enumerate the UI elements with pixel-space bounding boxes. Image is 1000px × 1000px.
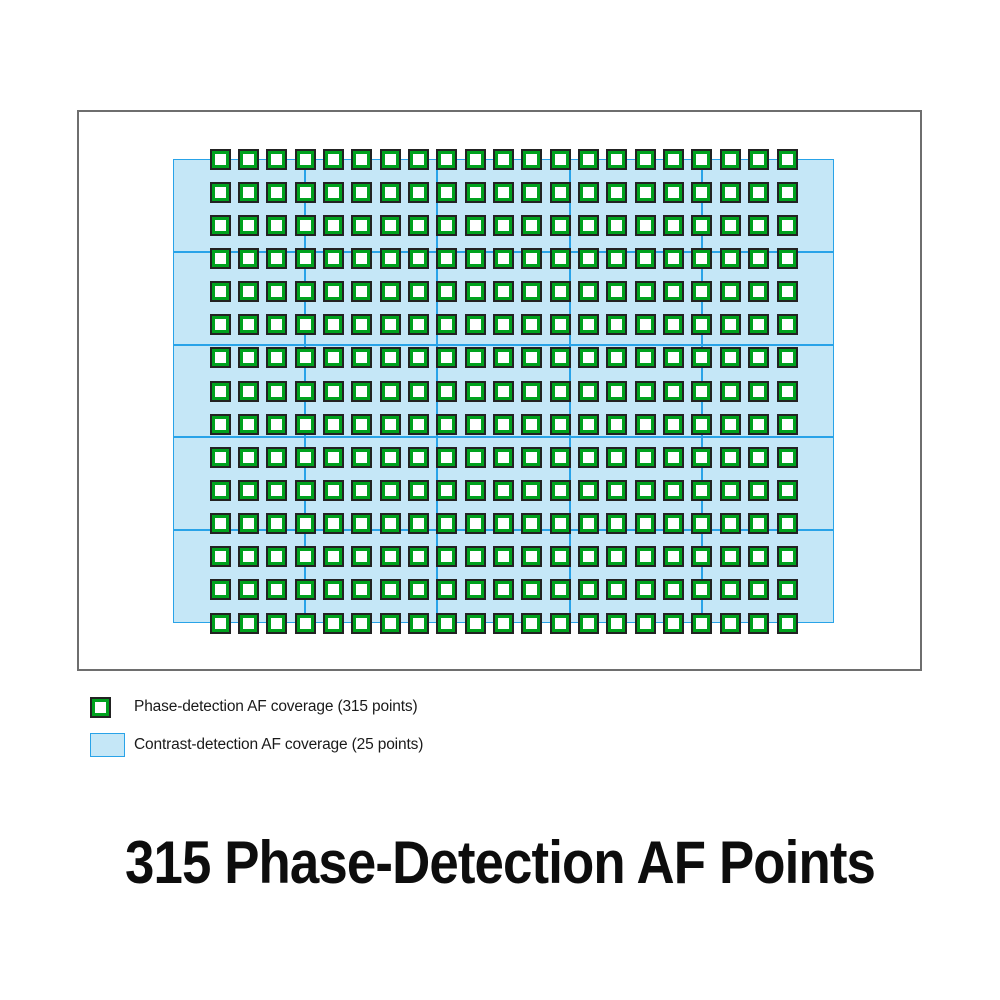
phase-af-point-r11-c8[interactable] [408,480,429,501]
phase-af-point-r15-c17[interactable] [663,613,684,634]
phase-af-point-r11-c12[interactable] [521,480,542,501]
phase-af-point-r9-c3[interactable] [266,414,287,435]
phase-af-point-r4-c7[interactable] [380,248,401,269]
phase-af-point-r12-c13[interactable] [550,513,571,534]
phase-af-point-r2-c13[interactable] [550,182,571,203]
phase-af-point-r14-c17[interactable] [663,579,684,600]
phase-af-point-r4-c1[interactable] [210,248,231,269]
contrast-zone-r5-c4[interactable] [570,530,702,623]
phase-af-point-r10-c15[interactable] [606,447,627,468]
phase-af-point-r1-c17[interactable] [663,149,684,170]
phase-af-point-r11-c16[interactable] [635,480,656,501]
phase-af-point-r2-c6[interactable] [351,182,372,203]
phase-af-point-r8-c2[interactable] [238,381,259,402]
phase-af-point-r4-c5[interactable] [323,248,344,269]
phase-af-point-r13-c9[interactable] [436,546,457,567]
phase-af-point-r12-c20[interactable] [748,513,769,534]
phase-af-point-r2-c19[interactable] [720,182,741,203]
phase-af-point-r3-c11[interactable] [493,215,514,236]
phase-af-point-r5-c4[interactable] [295,281,316,302]
contrast-zone-r5-c3[interactable] [437,530,569,623]
phase-af-point-r8-c14[interactable] [578,381,599,402]
phase-af-point-r10-c6[interactable] [351,447,372,468]
phase-af-point-r13-c21[interactable] [777,546,798,567]
phase-af-point-r6-c21[interactable] [777,314,798,335]
phase-af-point-r3-c14[interactable] [578,215,599,236]
phase-af-point-r15-c1[interactable] [210,613,231,634]
phase-af-point-r1-c19[interactable] [720,149,741,170]
phase-af-point-r13-c15[interactable] [606,546,627,567]
phase-af-point-r8-c11[interactable] [493,381,514,402]
phase-af-point-r15-c5[interactable] [323,613,344,634]
phase-af-point-r9-c17[interactable] [663,414,684,435]
phase-af-point-r1-c2[interactable] [238,149,259,170]
phase-af-point-r14-c21[interactable] [777,579,798,600]
phase-af-point-r13-c19[interactable] [720,546,741,567]
phase-af-point-r6-c6[interactable] [351,314,372,335]
phase-af-point-r14-c4[interactable] [295,579,316,600]
phase-af-point-r7-c7[interactable] [380,347,401,368]
phase-af-point-r11-c21[interactable] [777,480,798,501]
phase-af-point-r4-c21[interactable] [777,248,798,269]
phase-af-point-r3-c9[interactable] [436,215,457,236]
phase-af-point-r6-c4[interactable] [295,314,316,335]
phase-af-point-r10-c14[interactable] [578,447,599,468]
phase-af-point-r1-c15[interactable] [606,149,627,170]
phase-af-point-r1-c14[interactable] [578,149,599,170]
phase-af-point-r10-c20[interactable] [748,447,769,468]
phase-af-point-r13-c20[interactable] [748,546,769,567]
phase-af-point-r4-c12[interactable] [521,248,542,269]
phase-af-point-r2-c20[interactable] [748,182,769,203]
phase-af-point-r15-c7[interactable] [380,613,401,634]
phase-af-point-r12-c11[interactable] [493,513,514,534]
phase-af-point-r8-c9[interactable] [436,381,457,402]
phase-af-point-r8-c20[interactable] [748,381,769,402]
phase-af-point-r13-c17[interactable] [663,546,684,567]
phase-af-point-r1-c18[interactable] [691,149,712,170]
phase-af-point-r1-c3[interactable] [266,149,287,170]
phase-af-point-r5-c13[interactable] [550,281,571,302]
contrast-zone-r5-c1[interactable] [173,530,305,623]
phase-af-point-r8-c3[interactable] [266,381,287,402]
phase-af-point-r6-c14[interactable] [578,314,599,335]
phase-af-point-r11-c6[interactable] [351,480,372,501]
phase-af-point-r1-c5[interactable] [323,149,344,170]
contrast-zone-r1-c5[interactable] [702,159,834,252]
phase-af-point-r12-c3[interactable] [266,513,287,534]
phase-af-point-r5-c21[interactable] [777,281,798,302]
phase-af-point-r3-c5[interactable] [323,215,344,236]
phase-af-point-r13-c5[interactable] [323,546,344,567]
phase-af-point-r8-c21[interactable] [777,381,798,402]
phase-af-point-r2-c8[interactable] [408,182,429,203]
phase-af-point-r15-c2[interactable] [238,613,259,634]
phase-af-point-r8-c6[interactable] [351,381,372,402]
phase-af-point-r8-c1[interactable] [210,381,231,402]
phase-af-point-r2-c21[interactable] [777,182,798,203]
phase-af-point-r13-c13[interactable] [550,546,571,567]
phase-af-point-r8-c13[interactable] [550,381,571,402]
phase-af-point-r8-c18[interactable] [691,381,712,402]
phase-af-point-r15-c4[interactable] [295,613,316,634]
phase-af-point-r14-c15[interactable] [606,579,627,600]
phase-af-point-r7-c11[interactable] [493,347,514,368]
phase-af-point-r3-c1[interactable] [210,215,231,236]
phase-af-point-r7-c6[interactable] [351,347,372,368]
phase-af-point-r7-c9[interactable] [436,347,457,368]
phase-af-point-r13-c14[interactable] [578,546,599,567]
phase-af-point-r5-c5[interactable] [323,281,344,302]
phase-af-point-r4-c8[interactable] [408,248,429,269]
phase-af-point-r12-c4[interactable] [295,513,316,534]
phase-af-point-r1-c13[interactable] [550,149,571,170]
phase-af-point-r6-c9[interactable] [436,314,457,335]
phase-af-point-r10-c16[interactable] [635,447,656,468]
phase-af-point-r1-c20[interactable] [748,149,769,170]
phase-af-point-r4-c17[interactable] [663,248,684,269]
phase-af-point-r14-c1[interactable] [210,579,231,600]
phase-af-point-r5-c7[interactable] [380,281,401,302]
contrast-zone-r1-c4[interactable] [570,159,702,252]
phase-af-point-r6-c20[interactable] [748,314,769,335]
phase-af-point-r5-c2[interactable] [238,281,259,302]
phase-af-point-r2-c11[interactable] [493,182,514,203]
phase-af-point-r6-c16[interactable] [635,314,656,335]
phase-af-point-r11-c10[interactable] [465,480,486,501]
phase-af-point-r10-c10[interactable] [465,447,486,468]
phase-af-point-r10-c7[interactable] [380,447,401,468]
phase-af-point-r14-c7[interactable] [380,579,401,600]
phase-af-point-r12-c18[interactable] [691,513,712,534]
phase-af-point-r11-c14[interactable] [578,480,599,501]
phase-af-point-r13-c18[interactable] [691,546,712,567]
phase-af-point-r14-c10[interactable] [465,579,486,600]
phase-af-point-r10-c9[interactable] [436,447,457,468]
phase-af-point-r6-c15[interactable] [606,314,627,335]
phase-af-point-r3-c20[interactable] [748,215,769,236]
phase-af-point-r10-c18[interactable] [691,447,712,468]
phase-af-point-r5-c1[interactable] [210,281,231,302]
phase-af-point-r11-c15[interactable] [606,480,627,501]
phase-af-point-r9-c12[interactable] [521,414,542,435]
phase-af-point-r3-c7[interactable] [380,215,401,236]
phase-af-point-r8-c16[interactable] [635,381,656,402]
phase-af-point-r2-c17[interactable] [663,182,684,203]
phase-af-point-r15-c16[interactable] [635,613,656,634]
phase-af-point-r10-c13[interactable] [550,447,571,468]
phase-af-point-r15-c13[interactable] [550,613,571,634]
phase-af-point-r14-c6[interactable] [351,579,372,600]
phase-af-point-r10-c21[interactable] [777,447,798,468]
phase-af-point-r4-c11[interactable] [493,248,514,269]
phase-af-point-r7-c5[interactable] [323,347,344,368]
phase-af-point-r2-c18[interactable] [691,182,712,203]
phase-af-point-r12-c14[interactable] [578,513,599,534]
phase-af-point-r6-c2[interactable] [238,314,259,335]
phase-af-point-r9-c5[interactable] [323,414,344,435]
phase-af-point-r1-c21[interactable] [777,149,798,170]
phase-af-point-r15-c18[interactable] [691,613,712,634]
phase-af-point-r10-c1[interactable] [210,447,231,468]
phase-af-point-r15-c9[interactable] [436,613,457,634]
phase-af-point-r5-c16[interactable] [635,281,656,302]
phase-af-point-r7-c1[interactable] [210,347,231,368]
phase-af-point-r15-c3[interactable] [266,613,287,634]
phase-af-point-r9-c21[interactable] [777,414,798,435]
phase-af-point-r3-c6[interactable] [351,215,372,236]
phase-af-point-r11-c17[interactable] [663,480,684,501]
phase-af-point-r9-c7[interactable] [380,414,401,435]
phase-af-point-r13-c16[interactable] [635,546,656,567]
phase-af-point-r10-c11[interactable] [493,447,514,468]
phase-af-point-r6-c10[interactable] [465,314,486,335]
phase-af-point-r2-c3[interactable] [266,182,287,203]
phase-af-point-r12-c7[interactable] [380,513,401,534]
phase-af-point-r7-c2[interactable] [238,347,259,368]
phase-af-point-r14-c20[interactable] [748,579,769,600]
phase-af-point-r11-c2[interactable] [238,480,259,501]
phase-af-point-r14-c11[interactable] [493,579,514,600]
phase-af-point-r6-c11[interactable] [493,314,514,335]
phase-af-point-r14-c5[interactable] [323,579,344,600]
phase-af-point-r13-c2[interactable] [238,546,259,567]
phase-af-point-r10-c8[interactable] [408,447,429,468]
phase-af-point-r5-c15[interactable] [606,281,627,302]
phase-af-point-r7-c16[interactable] [635,347,656,368]
phase-af-point-r13-c8[interactable] [408,546,429,567]
phase-af-point-r13-c12[interactable] [521,546,542,567]
phase-af-point-r2-c15[interactable] [606,182,627,203]
phase-af-point-r7-c12[interactable] [521,347,542,368]
phase-af-point-r15-c12[interactable] [521,613,542,634]
phase-af-point-r10-c2[interactable] [238,447,259,468]
contrast-zone-r1-c3[interactable] [437,159,569,252]
phase-af-point-r11-c4[interactable] [295,480,316,501]
phase-af-point-r6-c1[interactable] [210,314,231,335]
phase-af-point-r1-c9[interactable] [436,149,457,170]
phase-af-point-r8-c12[interactable] [521,381,542,402]
phase-af-point-r6-c12[interactable] [521,314,542,335]
phase-af-point-r12-c6[interactable] [351,513,372,534]
phase-af-point-r12-c16[interactable] [635,513,656,534]
phase-af-point-r3-c12[interactable] [521,215,542,236]
phase-af-point-r5-c12[interactable] [521,281,542,302]
phase-af-point-r14-c16[interactable] [635,579,656,600]
phase-af-point-r1-c12[interactable] [521,149,542,170]
phase-af-point-r2-c9[interactable] [436,182,457,203]
phase-af-point-r7-c20[interactable] [748,347,769,368]
phase-af-point-r13-c3[interactable] [266,546,287,567]
contrast-zone-r1-c1[interactable] [173,159,305,252]
phase-af-point-r8-c10[interactable] [465,381,486,402]
contrast-zone-r1-c2[interactable] [305,159,437,252]
phase-af-point-r10-c5[interactable] [323,447,344,468]
phase-af-point-r6-c18[interactable] [691,314,712,335]
phase-af-point-r4-c2[interactable] [238,248,259,269]
phase-af-point-r14-c9[interactable] [436,579,457,600]
phase-af-point-r10-c4[interactable] [295,447,316,468]
phase-af-point-r15-c14[interactable] [578,613,599,634]
phase-af-point-r9-c10[interactable] [465,414,486,435]
phase-af-point-r14-c14[interactable] [578,579,599,600]
phase-af-point-r3-c8[interactable] [408,215,429,236]
phase-af-point-r7-c21[interactable] [777,347,798,368]
phase-af-point-r7-c18[interactable] [691,347,712,368]
phase-af-point-r7-c3[interactable] [266,347,287,368]
phase-af-point-r9-c13[interactable] [550,414,571,435]
phase-af-point-r6-c3[interactable] [266,314,287,335]
phase-af-point-r5-c19[interactable] [720,281,741,302]
phase-af-point-r12-c1[interactable] [210,513,231,534]
phase-af-point-r3-c19[interactable] [720,215,741,236]
phase-af-point-r5-c6[interactable] [351,281,372,302]
phase-af-point-r7-c17[interactable] [663,347,684,368]
phase-af-point-r15-c10[interactable] [465,613,486,634]
phase-af-point-r4-c15[interactable] [606,248,627,269]
phase-af-point-r12-c12[interactable] [521,513,542,534]
phase-af-point-r8-c8[interactable] [408,381,429,402]
phase-af-point-r7-c10[interactable] [465,347,486,368]
phase-af-point-r11-c3[interactable] [266,480,287,501]
phase-af-point-r5-c18[interactable] [691,281,712,302]
phase-af-point-r11-c13[interactable] [550,480,571,501]
phase-af-point-r2-c12[interactable] [521,182,542,203]
phase-af-point-r7-c13[interactable] [550,347,571,368]
phase-af-point-r9-c19[interactable] [720,414,741,435]
phase-af-point-r11-c1[interactable] [210,480,231,501]
phase-af-point-r6-c17[interactable] [663,314,684,335]
phase-af-point-r2-c5[interactable] [323,182,344,203]
phase-af-point-r9-c18[interactable] [691,414,712,435]
phase-af-point-r11-c5[interactable] [323,480,344,501]
phase-af-point-r15-c20[interactable] [748,613,769,634]
phase-af-point-r5-c20[interactable] [748,281,769,302]
phase-af-point-r4-c13[interactable] [550,248,571,269]
phase-af-point-r13-c7[interactable] [380,546,401,567]
phase-af-point-r3-c10[interactable] [465,215,486,236]
phase-af-point-r10-c17[interactable] [663,447,684,468]
phase-af-point-r15-c11[interactable] [493,613,514,634]
phase-af-point-r6-c13[interactable] [550,314,571,335]
phase-af-point-r8-c7[interactable] [380,381,401,402]
phase-af-point-r9-c15[interactable] [606,414,627,435]
phase-af-point-r9-c16[interactable] [635,414,656,435]
phase-af-point-r13-c10[interactable] [465,546,486,567]
phase-af-point-r4-c20[interactable] [748,248,769,269]
phase-af-point-r8-c17[interactable] [663,381,684,402]
phase-af-point-r5-c11[interactable] [493,281,514,302]
phase-af-point-r3-c21[interactable] [777,215,798,236]
phase-af-point-r7-c8[interactable] [408,347,429,368]
phase-af-point-r1-c4[interactable] [295,149,316,170]
phase-af-point-r3-c2[interactable] [238,215,259,236]
phase-af-point-r12-c21[interactable] [777,513,798,534]
phase-af-point-r4-c10[interactable] [465,248,486,269]
phase-af-point-r3-c3[interactable] [266,215,287,236]
phase-af-point-r5-c17[interactable] [663,281,684,302]
phase-af-point-r4-c9[interactable] [436,248,457,269]
phase-af-point-r9-c14[interactable] [578,414,599,435]
phase-af-point-r2-c10[interactable] [465,182,486,203]
phase-af-point-r8-c15[interactable] [606,381,627,402]
phase-af-point-r15-c15[interactable] [606,613,627,634]
phase-af-point-r2-c2[interactable] [238,182,259,203]
phase-af-point-r14-c3[interactable] [266,579,287,600]
phase-af-point-r2-c16[interactable] [635,182,656,203]
phase-af-point-r7-c15[interactable] [606,347,627,368]
phase-af-point-r4-c18[interactable] [691,248,712,269]
phase-af-point-r5-c8[interactable] [408,281,429,302]
phase-af-point-r3-c15[interactable] [606,215,627,236]
phase-af-point-r5-c10[interactable] [465,281,486,302]
phase-af-point-r9-c1[interactable] [210,414,231,435]
phase-af-point-r11-c7[interactable] [380,480,401,501]
contrast-zone-r5-c5[interactable] [702,530,834,623]
phase-af-point-r13-c4[interactable] [295,546,316,567]
phase-af-point-r15-c8[interactable] [408,613,429,634]
phase-af-point-r11-c20[interactable] [748,480,769,501]
phase-af-point-r6-c19[interactable] [720,314,741,335]
phase-af-point-r4-c19[interactable] [720,248,741,269]
phase-af-point-r11-c18[interactable] [691,480,712,501]
phase-af-point-r14-c13[interactable] [550,579,571,600]
phase-af-point-r14-c18[interactable] [691,579,712,600]
phase-af-point-r8-c4[interactable] [295,381,316,402]
phase-af-point-r9-c8[interactable] [408,414,429,435]
phase-af-point-r1-c1[interactable] [210,149,231,170]
phase-af-point-r14-c19[interactable] [720,579,741,600]
phase-af-point-r2-c1[interactable] [210,182,231,203]
phase-af-point-r1-c11[interactable] [493,149,514,170]
phase-af-point-r9-c9[interactable] [436,414,457,435]
phase-af-point-r13-c1[interactable] [210,546,231,567]
phase-af-point-r9-c2[interactable] [238,414,259,435]
phase-af-point-r9-c6[interactable] [351,414,372,435]
phase-af-point-r12-c5[interactable] [323,513,344,534]
phase-af-point-r1-c10[interactable] [465,149,486,170]
phase-af-point-r11-c9[interactable] [436,480,457,501]
phase-af-point-r9-c20[interactable] [748,414,769,435]
phase-af-point-r12-c17[interactable] [663,513,684,534]
phase-af-point-r11-c11[interactable] [493,480,514,501]
phase-af-point-r9-c4[interactable] [295,414,316,435]
phase-af-point-r13-c6[interactable] [351,546,372,567]
phase-af-point-r3-c4[interactable] [295,215,316,236]
phase-af-point-r5-c14[interactable] [578,281,599,302]
phase-af-point-r6-c7[interactable] [380,314,401,335]
phase-af-point-r8-c19[interactable] [720,381,741,402]
phase-af-point-r14-c8[interactable] [408,579,429,600]
phase-af-point-r7-c4[interactable] [295,347,316,368]
phase-af-point-r7-c19[interactable] [720,347,741,368]
phase-af-point-r1-c16[interactable] [635,149,656,170]
phase-af-point-r12-c10[interactable] [465,513,486,534]
phase-af-point-r15-c19[interactable] [720,613,741,634]
phase-af-point-r2-c4[interactable] [295,182,316,203]
phase-af-point-r3-c13[interactable] [550,215,571,236]
phase-af-point-r12-c19[interactable] [720,513,741,534]
phase-af-point-r4-c14[interactable] [578,248,599,269]
phase-af-point-r4-c6[interactable] [351,248,372,269]
phase-af-point-r5-c3[interactable] [266,281,287,302]
phase-af-point-r3-c17[interactable] [663,215,684,236]
phase-af-point-r15-c6[interactable] [351,613,372,634]
phase-af-point-r8-c5[interactable] [323,381,344,402]
phase-af-point-r12-c9[interactable] [436,513,457,534]
phase-af-point-r12-c15[interactable] [606,513,627,534]
phase-af-point-r1-c8[interactable] [408,149,429,170]
